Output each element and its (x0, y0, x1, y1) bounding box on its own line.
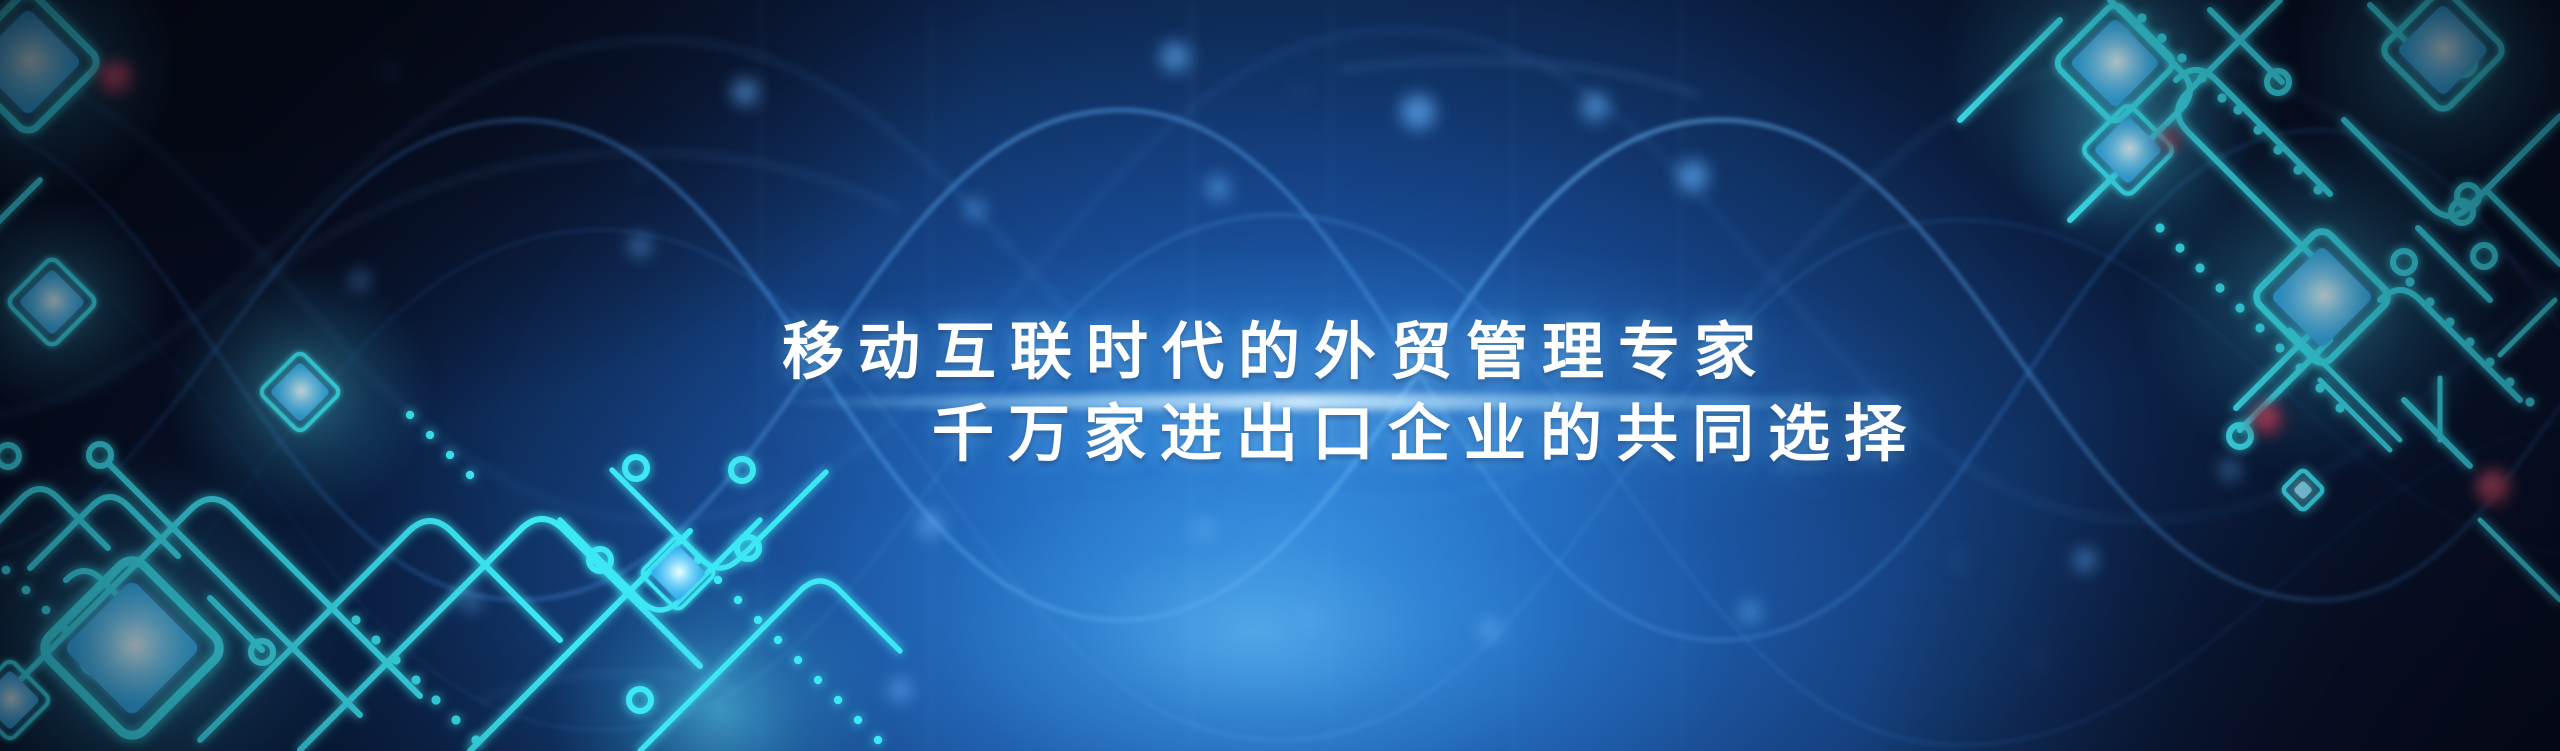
headline-line-2: 千万家进出口企业的共同选择 (0, 394, 2560, 476)
headline-block: 移动互联时代的外贸管理专家 千万家进出口企业的共同选择 (0, 312, 2560, 476)
headline-line-1: 移动互联时代的外贸管理专家 (0, 312, 2560, 394)
hero-banner: 移动互联时代的外贸管理专家 千万家进出口企业的共同选择 (0, 0, 2560, 751)
